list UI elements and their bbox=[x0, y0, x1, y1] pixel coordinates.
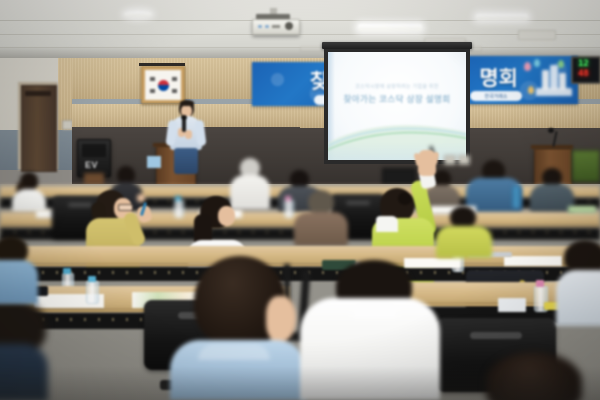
lectern-screen bbox=[147, 156, 161, 168]
presenter-hair bbox=[180, 100, 194, 106]
led-clock-green: 12 bbox=[578, 59, 589, 69]
wainscot-left bbox=[58, 130, 72, 170]
attendee-left-edge bbox=[0, 236, 38, 304]
led-clock: 12 48 bbox=[571, 56, 600, 84]
slide-title: 찾아가는 코스닥 상장 설명회 bbox=[328, 93, 466, 105]
attendee-brown bbox=[294, 190, 348, 246]
banner-right-subline: 한국거래소 bbox=[470, 91, 522, 101]
ceiling-seam bbox=[0, 34, 600, 35]
projection-screen: 코스닥시장에 상장하려는 기업을 위한 찾아가는 코스닥 상장 설명회 bbox=[328, 52, 466, 160]
shirt bbox=[294, 212, 348, 246]
balloon-icon bbox=[534, 59, 540, 67]
glasses bbox=[118, 204, 133, 211]
microphone-head bbox=[548, 128, 554, 133]
hair-bun bbox=[398, 192, 412, 205]
pa-speaker: EV bbox=[77, 139, 111, 177]
ground-shape bbox=[536, 88, 572, 96]
finger bbox=[432, 152, 439, 166]
water-bottle bbox=[284, 196, 292, 216]
ceiling-light bbox=[124, 11, 152, 17]
presenter bbox=[164, 100, 208, 174]
seminar-room-photo: 찾아 한국거래소 명회 한국거래소 12 48 코스닥시장에 상장하려는 기업을… bbox=[0, 0, 600, 400]
microphone-head bbox=[181, 115, 187, 120]
collar bbox=[354, 300, 396, 318]
ear-neck bbox=[266, 296, 296, 342]
ceiling-light bbox=[476, 14, 528, 20]
attendee-white-ponytail bbox=[12, 172, 46, 212]
foreground-shadow bbox=[0, 366, 600, 400]
water-bottle bbox=[86, 276, 97, 302]
presenter-arm-right bbox=[194, 120, 206, 147]
led-clock-red: 48 bbox=[578, 69, 589, 79]
water-bottle bbox=[174, 196, 182, 216]
banner-right: 명회 한국거래소 bbox=[462, 56, 578, 104]
presenter-hand bbox=[185, 130, 192, 139]
handout-paper bbox=[504, 256, 562, 266]
slide-subtitle: 코스닥시장에 상장하려는 기업을 위한 bbox=[328, 83, 466, 90]
equipment-case bbox=[572, 150, 600, 182]
attendee-right-mid bbox=[436, 206, 492, 258]
door-vent bbox=[25, 91, 51, 96]
building-icon bbox=[550, 65, 558, 90]
korean-flag-frame bbox=[141, 66, 185, 104]
side-door[interactable] bbox=[21, 85, 57, 172]
handout-paper bbox=[404, 258, 460, 268]
building-icon bbox=[542, 70, 549, 90]
flag-hanger-rail bbox=[139, 63, 185, 66]
ceiling-vent bbox=[518, 30, 556, 40]
head bbox=[308, 190, 334, 214]
screen-case bbox=[322, 42, 472, 49]
small-carton bbox=[498, 298, 526, 312]
tumbler bbox=[512, 186, 521, 208]
collar bbox=[376, 216, 398, 232]
shirt bbox=[0, 260, 38, 304]
microphone bbox=[182, 118, 186, 132]
ceiling-projector bbox=[252, 8, 298, 34]
ceiling-seam bbox=[0, 20, 600, 21]
head bbox=[564, 240, 600, 274]
ceiling-light bbox=[358, 24, 422, 31]
head bbox=[450, 206, 476, 228]
collar bbox=[198, 344, 270, 360]
balloon-icon bbox=[528, 86, 534, 94]
speaker-brand-label: EV bbox=[85, 160, 98, 170]
attendee-right-edge bbox=[556, 240, 600, 326]
balloon-icon bbox=[524, 62, 531, 71]
banner-right-headline: 명회 bbox=[462, 68, 518, 89]
balloon-icon bbox=[558, 60, 564, 68]
shirt bbox=[436, 226, 492, 258]
shirt bbox=[556, 270, 600, 326]
presentation-slide: 코스닥시장에 상장하려는 기업을 위한 찾아가는 코스닥 상장 설명회 bbox=[328, 52, 466, 160]
green-handout bbox=[568, 206, 596, 213]
presenter-trousers bbox=[174, 148, 198, 174]
face bbox=[218, 206, 235, 226]
